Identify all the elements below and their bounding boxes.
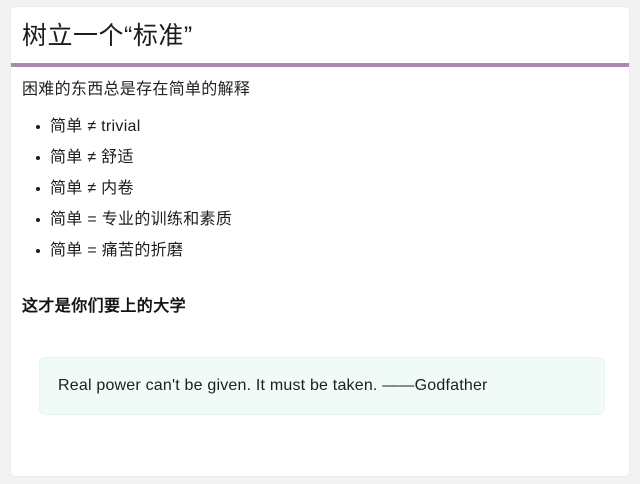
list-item-label: 简单 ≠ 舒适: [50, 149, 134, 166]
list-item-label: 简单 = 痛苦的折磨: [50, 242, 183, 259]
list-item-label: 简单 ≠ trivial: [50, 118, 141, 135]
bullet-dot-icon: [36, 125, 40, 129]
lead-paragraph: 困难的东西总是存在简单的解释: [22, 79, 250, 101]
slide-card: 树立一个“标准” 困难的东西总是存在简单的解释 简单 ≠ trivial 简单 …: [10, 6, 630, 477]
bullet-dot-icon: [36, 187, 40, 191]
slide-content: 困难的东西总是存在简单的解释 简单 ≠ trivial 简单 ≠ 舒适 简单 ≠…: [11, 67, 629, 476]
bullet-dot-icon: [36, 249, 40, 253]
quote-callout-box: Real power can't be given. It must be ta…: [39, 357, 605, 415]
bullet-dot-icon: [36, 156, 40, 160]
list-item: 简单 = 痛苦的折磨: [11, 235, 232, 266]
list-item-label: 简单 = 专业的训练和素质: [50, 211, 232, 228]
bullet-list: 简单 ≠ trivial 简单 ≠ 舒适 简单 ≠ 内卷 简单 = 专业的训练和…: [11, 111, 232, 266]
list-item: 简单 ≠ trivial: [11, 111, 232, 142]
list-item: 简单 = 专业的训练和素质: [11, 204, 232, 235]
list-item-label: 简单 ≠ 内卷: [50, 180, 134, 197]
list-item: 简单 ≠ 内卷: [11, 173, 232, 204]
bullet-dot-icon: [36, 218, 40, 222]
list-item: 简单 ≠ 舒适: [11, 142, 232, 173]
quote-text: Real power can't be given. It must be ta…: [58, 358, 488, 414]
closing-statement: 这才是你们要上的大学: [22, 296, 186, 318]
page-title: 树立一个“标准”: [22, 19, 193, 53]
